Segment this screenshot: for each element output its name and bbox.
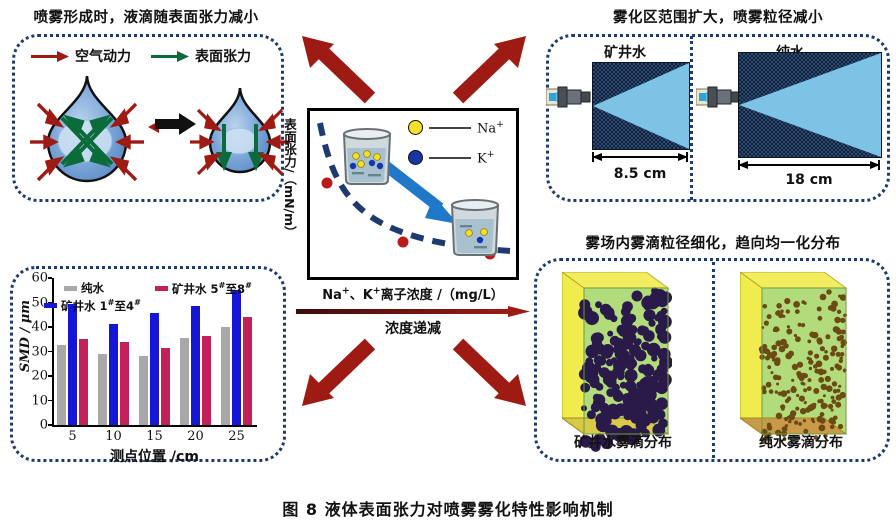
chart-bar: [109, 324, 119, 425]
nozzle-icon-mine-water: [546, 82, 592, 112]
legend-label-mine-water-5-8: 矿井水 5#至8#: [172, 280, 252, 297]
arrow-to-top-right: [448, 34, 528, 106]
chart-x-tick: 25: [228, 429, 245, 444]
small-droplet: [190, 76, 290, 184]
chart-legend-mine-water-1-4: 矿井水 1#至4#: [44, 297, 141, 314]
red-arrow-icon: [30, 50, 70, 63]
center-legend-k: K+: [408, 149, 495, 166]
na-ion-dot-icon: [408, 120, 423, 135]
chart-y-axis-label: SMD / μm: [18, 300, 33, 372]
chart-y-tickmark: [48, 351, 52, 353]
chart-bar: [139, 356, 149, 425]
top-right-panel-title: 雾化区范围扩大，喷雾粒径减小: [540, 6, 896, 27]
chart-y-tickmark: [48, 277, 52, 279]
legend-swatch-mine-water-5-8: [155, 286, 168, 291]
legend-surface-tension-label: 表面张力: [195, 46, 251, 66]
legend-connector-line: [429, 127, 471, 129]
chart-bar: [161, 348, 171, 425]
arrow-to-bottom-left: [300, 336, 380, 408]
legend-swatch-mine-water-1-4: [44, 303, 57, 308]
beaker-high-concentration: [336, 128, 398, 186]
chart-x-axis-label: 测点位置 /cm: [52, 446, 257, 466]
spray-field-mine-water: [592, 62, 690, 150]
chart-y-tickmark: [48, 424, 52, 426]
chart-bar: [232, 290, 242, 425]
nozzle-icon-pure-water: [696, 82, 742, 112]
chart-bar: [191, 306, 201, 425]
figure-caption: 图 8 液体表面张力对喷雾雾化特性影响机制: [0, 496, 896, 520]
chart-y-tickmark: [48, 400, 52, 402]
large-droplet: [22, 62, 152, 192]
legend-label-pure-water: 纯水: [81, 280, 104, 296]
legend-connector-line: [429, 157, 471, 159]
chart-bar: [98, 354, 108, 425]
chart-y-tick: 60: [31, 271, 48, 286]
spray-cone-pure-water: [739, 53, 881, 157]
chart-y-tickmark: [48, 375, 52, 377]
top-left-panel-title: 喷雾形成时，液滴随表面张力减小: [0, 6, 292, 27]
center-legend-na-label: Na+: [477, 119, 504, 136]
chart-x-tick: 10: [105, 429, 122, 444]
arrow-to-bottom-right: [448, 336, 528, 408]
chart-bar: [57, 345, 67, 425]
chart-y-tick: 10: [31, 393, 48, 408]
chart-x-tick: 20: [187, 429, 204, 444]
chart-bar: [180, 338, 190, 425]
chart-bar: [243, 317, 253, 425]
bottom-right-panel-title: 雾场内雾滴粒径细化，趋向均一化分布: [530, 232, 896, 253]
dimension-line-mine-water: [592, 152, 688, 162]
chart-bar: [68, 304, 78, 425]
droplet-box-label-pure-water: 纯水雾滴分布: [726, 432, 876, 452]
spray-field-pure-water: [738, 52, 882, 158]
chart-bar: [150, 313, 160, 425]
center-legend-k-label: K+: [477, 149, 495, 166]
spray-dimension-mine-water: 8.5 cm: [592, 166, 688, 182]
center-y-axis-label: 表面张力/（mN/m）: [280, 118, 299, 278]
chart-y-tickmark: [48, 326, 52, 328]
spray-panel-divider: [690, 36, 693, 200]
chart-x-axis: [52, 425, 257, 427]
chart-bar: [79, 339, 89, 425]
chart-bar: [202, 336, 212, 425]
spray-cone-mine-water: [593, 63, 689, 149]
legend-label-mine-water-1-4: 矿井水 1#至4#: [61, 297, 141, 314]
dimension-line-pure-water: [738, 160, 880, 170]
green-arrow-icon: [150, 50, 190, 63]
chart-legend-mine-water-5-8: 矿井水 5#至8#: [155, 280, 252, 297]
chart-y-tick: 0: [40, 418, 48, 433]
center-x-axis-label: Na+、K+离子浓度 /（mg/L）: [288, 284, 538, 303]
spray-label-mine-water: 矿井水: [570, 42, 680, 62]
legend-surface-tension: 表面张力: [150, 46, 251, 66]
center-trend-label: 浓度递减: [288, 318, 538, 338]
center-legend-na: Na+: [408, 119, 504, 136]
chart-bar: [120, 342, 130, 425]
droplet-box-label-mine-water: 矿井水雾滴分布: [548, 432, 698, 452]
chart-y-tick: 20: [31, 369, 48, 384]
droplet-cube-svg: [740, 272, 850, 456]
chart-y-tick: 40: [31, 320, 48, 335]
chart-x-tick: 15: [146, 429, 163, 444]
droplet-cube-svg: [562, 272, 672, 456]
arrow-to-top-left: [300, 34, 380, 106]
droplet-panel-divider: [712, 262, 715, 458]
chart-x-tick: 5: [68, 429, 76, 444]
beaker-low-concentration: [444, 199, 506, 257]
chart-bar: [221, 327, 231, 425]
k-ion-dot-icon: [408, 150, 423, 165]
chart-legend-pure-water: 纯水: [64, 280, 104, 296]
spray-dimension-pure-water: 18 cm: [738, 172, 880, 188]
concentration-gradient-arrow-icon: [296, 306, 530, 317]
legend-swatch-pure-water: [64, 286, 77, 291]
chart-y-tick: 30: [31, 344, 48, 359]
center-schematic-frame: Na+ K+: [307, 108, 519, 280]
